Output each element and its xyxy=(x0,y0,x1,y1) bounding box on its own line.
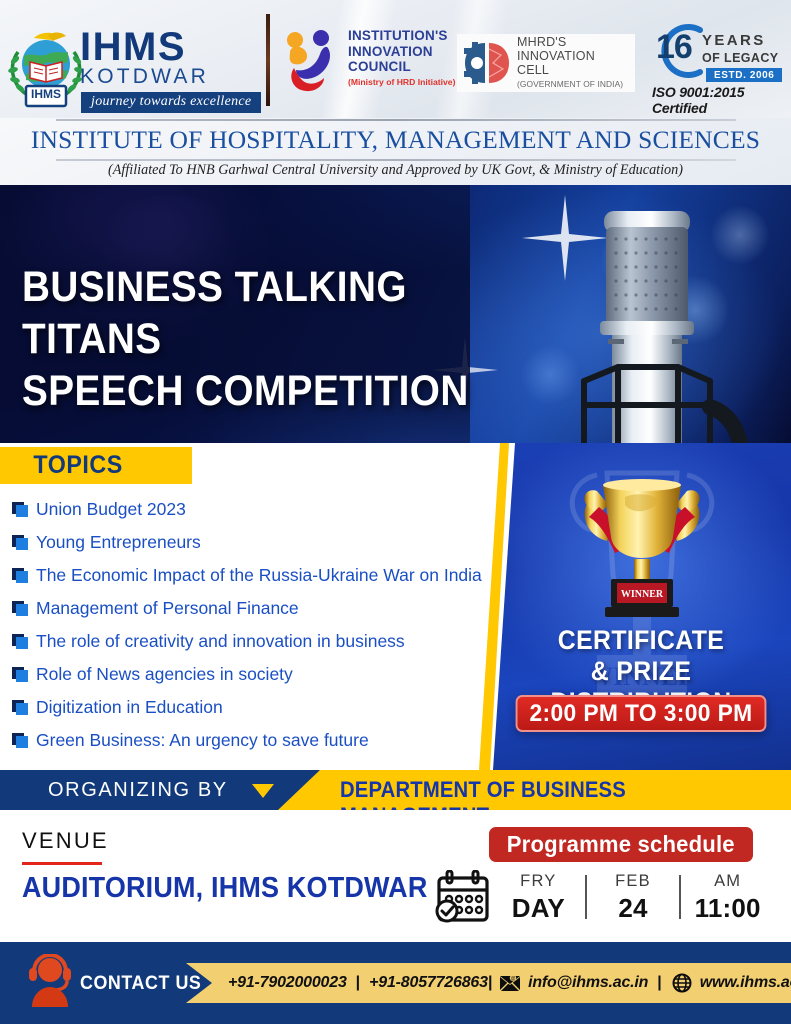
iic-line-2: INNOVATION xyxy=(348,44,460,60)
list-item: Green Business: An urgency to save futur… xyxy=(10,724,520,757)
list-item: Young Entrepreneurs xyxy=(10,526,520,559)
headset-support-icon xyxy=(26,954,74,1008)
topics-heading: TOPICS xyxy=(33,451,122,480)
schedule-badge: Programme schedule xyxy=(489,827,753,862)
contact-details-bar: +91-7902000023 | +91-8057726863| @ info@… xyxy=(186,963,791,1003)
list-item: Digitization in Education xyxy=(10,691,520,724)
svg-text:@: @ xyxy=(511,976,516,982)
bullet-square-icon xyxy=(10,502,36,518)
ihms-name-main: IHMS xyxy=(80,28,258,66)
list-item: Role of News agencies in society xyxy=(10,658,520,691)
schedule-day-top: FRY xyxy=(492,873,585,890)
hero-section: BUSINESS TALKING TITANS SPEECH COMPETITI… xyxy=(0,185,791,443)
gold-trophy-icon: WINNER xyxy=(577,461,707,621)
bullet-square-icon xyxy=(10,667,36,683)
list-item: Management of Personal Finance xyxy=(10,592,520,625)
legacy-of-legacy: OF LEGACY xyxy=(702,51,779,65)
topic-label: The role of creativity and innovation in… xyxy=(36,631,405,652)
prize-panel: WINNER xyxy=(491,443,791,770)
topic-label: Green Business: An urgency to save futur… xyxy=(36,730,369,751)
institute-affiliation: (Affiliated To HNB Garhwal Central Unive… xyxy=(0,162,791,179)
legacy-badge: 16 YEARS OF LEGACY ESTD. 2006 ISO 9001:2… xyxy=(650,18,788,102)
ihms-wordmark: IHMS KOTDWAR xyxy=(80,28,258,88)
contact-separator-1: | xyxy=(354,974,362,992)
bullet-square-icon xyxy=(10,601,36,617)
svg-text:IHMS: IHMS xyxy=(31,87,61,101)
venue-name: AUDITORIUM, IHMS KOTDWAR xyxy=(22,872,428,905)
mhrd-text: MHRD'S INNOVATION CELL (GOVERNMENT OF IN… xyxy=(517,35,629,91)
organizing-label: ORGANIZING BY xyxy=(48,779,228,802)
contact-email[interactable]: info@ihms.ac.in xyxy=(528,974,648,992)
venue-schedule-section: VENUE AUDITORIUM, IHMS KOTDWAR Programme… xyxy=(0,810,791,942)
schedule-day-bottom: DAY xyxy=(492,895,585,921)
hero-title: BUSINESS TALKING TITANS SPEECH COMPETITI… xyxy=(22,261,562,417)
poster-header: IHMS IHMS KOTDWAR journey towards excell… xyxy=(0,0,791,118)
schedule-row: FRY DAY FEB 24 AM 11:00 xyxy=(434,868,774,926)
mhrd-logo: MHRD'S INNOVATION CELL (GOVERNMENT OF IN… xyxy=(457,34,635,92)
mhrd-line-2: INNOVATION CELL xyxy=(517,49,629,77)
topics-list: Union Budget 2023 Young Entrepreneurs Th… xyxy=(10,493,520,757)
iic-logo: INSTITUTION'S INNOVATION COUNCIL (Minist… xyxy=(282,26,458,100)
contact-website[interactable]: www.ihms.ac.in xyxy=(700,974,791,992)
bullet-square-icon xyxy=(10,700,36,716)
venue-underline xyxy=(22,862,102,865)
mhrd-line-3: (GOVERNMENT OF INDIA) xyxy=(517,77,629,91)
schedule-month: FEB xyxy=(587,873,680,890)
poster-footer: CONTACT US +91-7902000023 | +91-80577268… xyxy=(0,942,791,1024)
iic-people-swirl-icon xyxy=(282,28,344,94)
globe-book-laurel-emblem: IHMS xyxy=(4,22,88,110)
legacy-iso: ISO 9001:2015 Certified xyxy=(652,84,788,116)
poster-root: IHMS IHMS KOTDWAR journey towards excell… xyxy=(0,0,791,1024)
bullet-square-icon xyxy=(10,634,36,650)
calendar-icon xyxy=(434,870,492,924)
gear-brain-icon xyxy=(463,41,511,85)
iic-line-3: COUNCIL xyxy=(348,59,460,75)
legacy-years: YEARS xyxy=(702,32,766,49)
studio-microphone-icon xyxy=(560,191,750,443)
globe-icon xyxy=(671,973,693,993)
schedule-meridiem: AM xyxy=(681,873,774,890)
title-rule-top xyxy=(56,119,736,121)
list-item: The Economic Impact of the Russia-Ukrain… xyxy=(10,559,520,592)
bullet-square-icon xyxy=(10,733,36,749)
venue-label: VENUE xyxy=(22,828,109,854)
organizing-band: ORGANIZING BY DEPARTMENT OF BUSINESS MAN… xyxy=(0,770,791,810)
iic-line-1: INSTITUTION'S xyxy=(348,28,460,44)
schedule-item-date: FEB 24 xyxy=(587,873,680,921)
topics-banner: TOPICS xyxy=(0,447,192,484)
schedule-date: 24 xyxy=(587,895,680,921)
list-item: The role of creativity and innovation in… xyxy=(10,625,520,658)
svg-text:WINNER: WINNER xyxy=(621,589,664,600)
body-section: WINNER xyxy=(0,443,791,770)
legacy-estd: ESTD. 2006 xyxy=(706,68,782,82)
bullet-square-icon xyxy=(10,568,36,584)
title-rule-bottom xyxy=(56,159,736,161)
institute-title-band: INSTITUTE OF HOSPITALITY, MANAGEMENT AND… xyxy=(0,118,791,185)
institute-name: INSTITUTE OF HOSPITALITY, MANAGEMENT AND… xyxy=(0,125,791,155)
bullet-square-icon xyxy=(10,535,36,551)
schedule-time: 11:00 xyxy=(681,895,774,921)
legacy-number: 16 xyxy=(656,28,692,67)
topic-label: Young Entrepreneurs xyxy=(36,532,201,553)
ihms-name-sub: KOTDWAR xyxy=(80,66,258,88)
topic-label: Role of News agencies in society xyxy=(36,664,293,685)
list-item: Union Budget 2023 xyxy=(10,493,520,526)
hero-title-line-2: SPEECH COMPETITION xyxy=(22,365,508,417)
schedule-badge-label: Programme schedule xyxy=(507,831,735,858)
mhrd-line-1: MHRD'S xyxy=(517,35,629,49)
iic-text: INSTITUTION'S INNOVATION COUNCIL (Minist… xyxy=(348,28,460,87)
contact-us-label: CONTACT US xyxy=(80,973,201,995)
prize-heading-line-1: CERTIFICATE xyxy=(503,625,779,656)
contact-phone-2[interactable]: +91-8057726863| xyxy=(369,974,492,992)
schedule-item-day: FRY DAY xyxy=(492,873,585,921)
header-divider xyxy=(266,14,270,106)
topic-label: Management of Personal Finance xyxy=(36,598,299,619)
ihms-tagline: journey towards excellence xyxy=(81,92,261,113)
contact-phone-1[interactable]: +91-7902000023 xyxy=(228,974,347,992)
hero-title-line-1: BUSINESS TALKING TITANS xyxy=(22,261,508,365)
ihms-logo: IHMS IHMS KOTDWAR journey towards excell… xyxy=(4,22,258,112)
email-envelope-icon: @ xyxy=(499,973,521,993)
schedule-item-time: AM 11:00 xyxy=(681,873,774,921)
iic-ministry: (Ministry of HRD Initiative) xyxy=(348,77,460,87)
topic-label: Digitization in Education xyxy=(36,697,223,718)
topic-label: Union Budget 2023 xyxy=(36,499,186,520)
prize-time-badge: 2:00 PM TO 3:00 PM xyxy=(516,695,767,732)
contact-separator-2: | xyxy=(655,974,663,992)
chevron-down-icon xyxy=(252,784,274,798)
topic-label: The Economic Impact of the Russia-Ukrain… xyxy=(36,565,482,586)
